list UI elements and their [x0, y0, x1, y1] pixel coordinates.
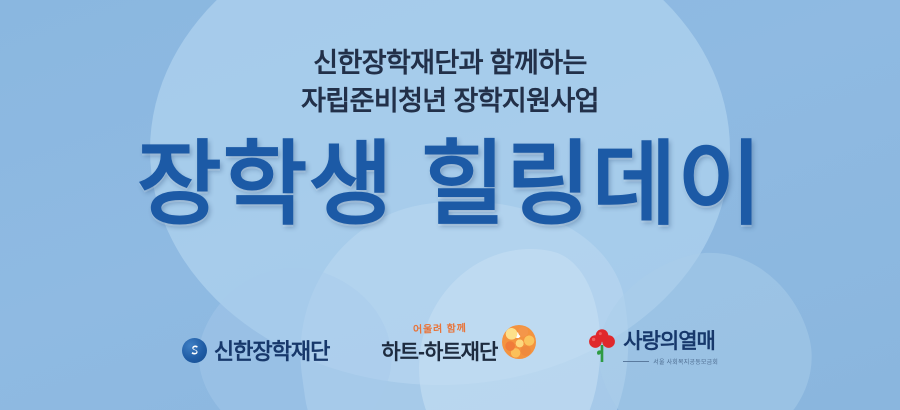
poster-subtitle: 신한장학재단과 함께하는 자립준비청년 장학지원사업: [301, 44, 599, 121]
subtitle-line-2: 자립준비청년 장학지원사업: [301, 82, 599, 120]
poster-canvas: 신한장학재단과 함께하는 자립준비청년 장학지원사업 장학생 힐링데이 신한장학…: [0, 0, 900, 410]
subtitle-line-1: 신한장학재단과 함께하는: [301, 44, 599, 82]
poster-main-title: 장학생 힐링데이: [137, 139, 763, 231]
